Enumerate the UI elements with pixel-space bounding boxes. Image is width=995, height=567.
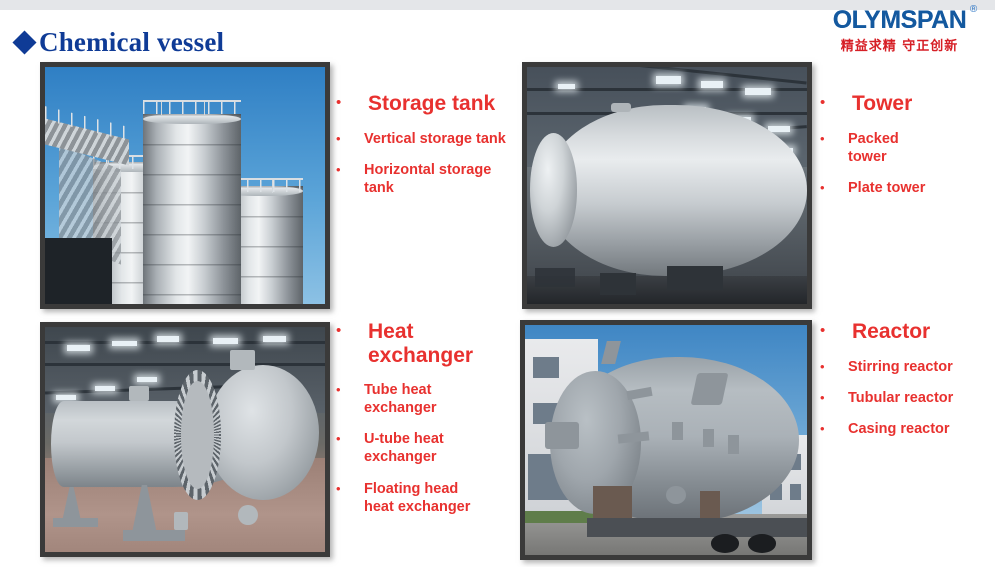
reactor-lug [672,422,683,440]
list-item: • Tubular reactor [820,389,992,407]
skylight [263,336,285,342]
list-item-label: Horizontal storage tank [364,161,516,197]
list-item: • Floating head heat exchanger [336,480,516,516]
text-column-reactor: • Reactor • Stirring reactor • Tubular r… [820,320,992,451]
building-window [533,357,558,378]
reactor-bottom-nozzle [666,486,686,504]
logo-tagline: 精益求精 守正创新 [812,35,987,54]
bullet-icon: • [336,130,364,145]
skylight [558,84,575,90]
skylight [701,81,723,88]
tower-vessel-head [530,133,578,247]
tower-saddle-support [667,266,723,290]
section-heading: Heat exchanger [368,320,488,367]
list-item: • Tube heat exchanger [336,381,516,417]
foreground-structure [45,238,112,304]
tower-vessel-body [544,105,807,276]
list-item: • Stirring reactor [820,358,992,376]
company-logo: OLYMSPAN ® 精益求精 守正创新 [812,8,987,54]
skylight [213,338,238,344]
list-item-label: Casing reactor [848,420,950,438]
list-item: • U-tube heat exchanger [336,430,516,466]
trailer-bolster [700,491,720,519]
exchanger-nozzle [129,386,149,402]
photo-frame-heat-exchanger [40,322,330,557]
section-heading-row: • Tower [820,92,992,116]
bullet-icon: • [336,320,368,338]
bullet-icon: • [336,430,364,445]
text-column-heat-exchanger: • Heat exchanger • Tube heat exchanger •… [336,320,516,529]
registered-trademark-icon: ® [970,4,977,15]
logo-wordmark-wrap: OLYMSPAN ® [833,8,967,33]
exchanger-support-foot [238,505,258,525]
skylight [56,395,76,400]
trailer-bolster [593,486,632,518]
tank-center [143,114,241,304]
slide: Chemical vessel OLYMSPAN ® 精益求精 守正创新 [0,0,995,567]
list-item-label: Stirring reactor [848,358,953,376]
bullet-icon: • [820,420,848,435]
list-item: • Plate tower [820,179,992,197]
list-item: • Packed tower [820,130,992,166]
tower-saddle-support [535,268,574,287]
trailer-wheel [711,534,739,552]
section-heading: Reactor [852,320,930,344]
skylight [112,341,137,347]
list-item-label: Tube heat exchanger [364,381,452,417]
tower-saddle-support [600,273,636,294]
section-heading: Tower [852,92,912,116]
section-heading-row: • Reactor [820,320,992,344]
photo-frame-reactor [520,320,812,560]
photo-storage-tank [45,67,325,304]
exchanger-channel-head [207,365,319,500]
page-title-text: Chemical vessel [39,27,224,58]
list-item: • Casing reactor [820,420,992,438]
photo-tower [527,67,807,304]
list-item: • Horizontal storage tank [336,161,516,197]
trailer-wheel [748,534,776,552]
list-item-label: Floating head heat exchanger [364,480,480,516]
bullet-icon: • [820,358,848,373]
bullet-icon: • [820,130,848,145]
list-item-label: Tubular reactor [848,389,953,407]
saddle-base-plate [123,530,185,541]
railing-center [143,100,241,114]
text-column-storage-tank: • Storage tank • Vertical storage tank •… [336,92,516,210]
reactor-manway-nozzle [545,422,579,450]
skylight [67,345,89,351]
exchanger-nozzle [230,350,255,370]
skylight [95,386,115,391]
list-item-label: Vertical storage tank [364,130,506,148]
logo-wordmark: OLYMSPAN [833,6,967,34]
reactor-lug [728,435,739,453]
roof-truss [45,363,325,366]
list-item: • Vertical storage tank [336,130,516,148]
bullet-icon: • [820,320,852,338]
bullet-icon: • [820,179,848,194]
skylight [157,336,179,342]
text-column-tower: • Tower • Packed tower • Plate tower [820,92,992,210]
trailer-bed [587,518,807,536]
list-item-label: Packed tower [848,130,910,166]
list-item-label: U-tube heat exchanger [364,430,464,466]
skylight [745,88,770,95]
photo-heat-exchanger [45,327,325,552]
rail-center [143,100,241,102]
exchanger-drain-nozzle [174,512,188,530]
bullet-icon: • [820,92,852,110]
reactor-lug [703,429,714,447]
exchanger-flange-face [181,381,215,489]
bullet-icon: • [336,92,368,110]
bullet-icon: • [820,389,848,404]
page-title: Chemical vessel [16,27,224,58]
section-heading-row: • Heat exchanger [336,320,516,367]
tank-top-rim [143,114,241,124]
tower-nozzle [611,103,631,112]
saddle-base-plate [53,518,98,527]
building-window [790,484,801,500]
skylight [656,76,681,83]
photo-frame-storage-tank [40,62,330,309]
bullet-icon: • [336,480,364,495]
skylight [137,377,157,382]
bullet-icon: • [336,161,364,176]
list-item-label: Plate tower [848,179,925,197]
section-heading: Storage tank [368,92,495,116]
section-heading-row: • Storage tank [336,92,516,116]
diamond-bullet-icon [12,30,36,54]
photo-frame-tower [522,62,812,309]
photo-reactor [525,325,807,555]
bullet-icon: • [336,381,364,396]
